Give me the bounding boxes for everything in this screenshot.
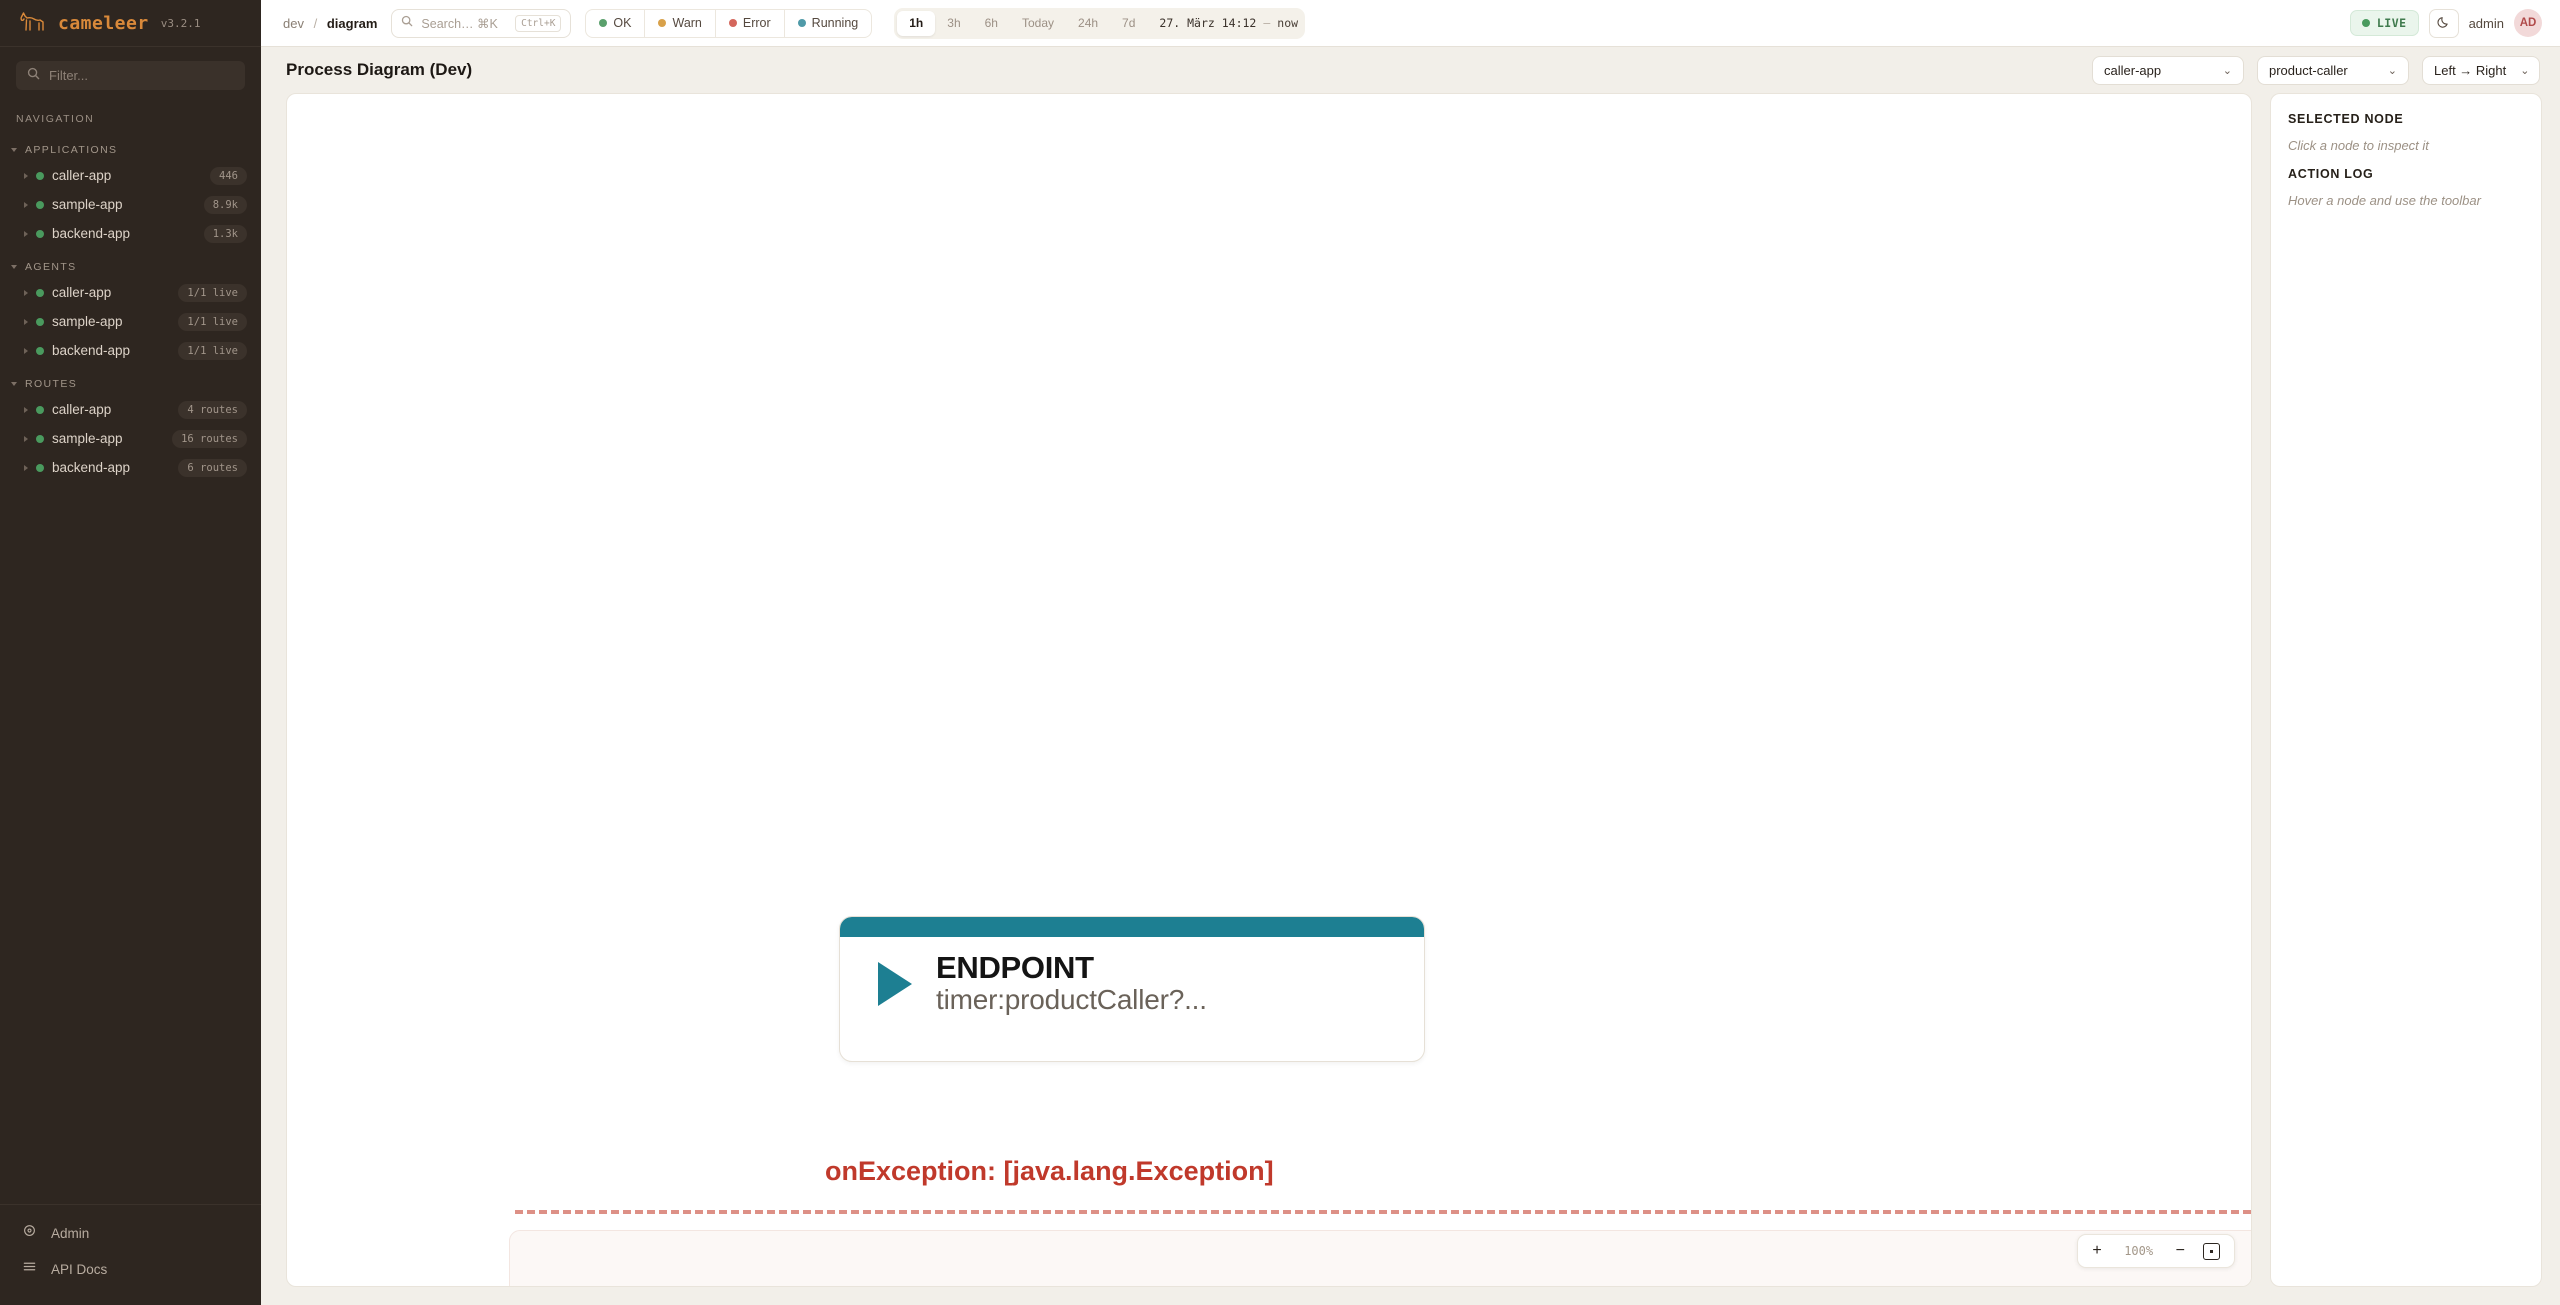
diagram-canvas[interactable]: ENDPOINT timer:productCaller?... onExcep…	[286, 93, 2252, 1287]
status-dot	[798, 19, 806, 27]
action-log-hint: Hover a node and use the toolbar	[2288, 193, 2524, 208]
status-filter-group: OK Warn Error Running	[585, 9, 872, 38]
status-chip-label: Running	[812, 16, 859, 30]
sidebar-item-label: backend-app	[52, 343, 170, 358]
live-badge[interactable]: LIVE	[2350, 10, 2419, 36]
chevron-down-icon	[11, 148, 17, 152]
group-label: APPLICATIONS	[25, 144, 117, 156]
sidebar-item-label: caller-app	[52, 168, 202, 183]
sidebar-item-applications-backend-app[interactable]: backend-app 1.3k	[0, 219, 261, 248]
status-dot	[36, 464, 44, 472]
node-text: ENDPOINT timer:productCaller?...	[936, 951, 1207, 1017]
brand-name: cameleer	[58, 13, 149, 34]
filter-box[interactable]	[16, 61, 245, 90]
page-header-controls: caller-app ⌄ product-caller ⌄ Left → Rig…	[2092, 56, 2540, 85]
sidebar-spacer	[0, 482, 261, 1204]
sidebar-item-badge: 6 routes	[178, 459, 247, 477]
app-select-value: caller-app	[2104, 63, 2161, 78]
search-placeholder: Search… ⌘K	[421, 16, 507, 31]
sidebar-item-routes-sample-app[interactable]: sample-app 16 routes	[0, 424, 261, 453]
sidebar-footer: Admin API Docs	[0, 1204, 261, 1305]
node-kind-label: ENDPOINT	[936, 951, 1207, 984]
sidebar-item-admin[interactable]: Admin	[0, 1215, 261, 1251]
sidebar-item-label: caller-app	[52, 285, 170, 300]
sidebar-item-applications-sample-app[interactable]: sample-app 8.9k	[0, 190, 261, 219]
group-agents: AGENTS caller-app 1/1 live sample-app 1/…	[0, 256, 261, 365]
time-range-from: 27. März 14:12	[1159, 16, 1256, 30]
brand-version: v3.2.1	[161, 17, 201, 30]
zoom-out-button[interactable]: −	[2176, 1243, 2185, 1259]
time-range-7d[interactable]: 7d	[1110, 11, 1147, 36]
sidebar-item-badge: 8.9k	[204, 196, 247, 214]
page-title: Process Diagram (Dev)	[286, 60, 472, 80]
main-area: dev / diagram Search… ⌘K Ctrl+K OK	[261, 0, 2560, 1305]
breadcrumb-separator: /	[314, 16, 318, 31]
status-dot	[36, 435, 44, 443]
time-range-group: 1h 3h 6h Today 24h 7d 27. März 14:12 – n…	[894, 8, 1305, 39]
status-dot	[36, 318, 44, 326]
inspector-panel: SELECTED NODE Click a node to inspect it…	[2270, 93, 2542, 1287]
group-applications: APPLICATIONS caller-app 446 sample-app 8…	[0, 139, 261, 248]
status-dot	[36, 406, 44, 414]
status-dot	[599, 19, 607, 27]
sidebar-item-badge: 4 routes	[178, 401, 247, 419]
moon-icon	[2437, 15, 2451, 32]
sidebar-item-applications-caller-app[interactable]: caller-app 446	[0, 161, 261, 190]
status-dot	[36, 172, 44, 180]
sidebar-footer-label: API Docs	[51, 1262, 107, 1277]
search-input[interactable]: Search… ⌘K Ctrl+K	[391, 9, 571, 38]
content-area: ENDPOINT timer:productCaller?... onExcep…	[261, 93, 2560, 1305]
sidebar-item-label: sample-app	[52, 431, 164, 446]
avatar[interactable]: AD	[2514, 9, 2542, 37]
sidebar-item-routes-caller-app[interactable]: caller-app 4 routes	[0, 395, 261, 424]
zoom-level: 100%	[2120, 1244, 2158, 1258]
page-header: Process Diagram (Dev) caller-app ⌄ produ…	[261, 47, 2560, 93]
time-range-6h[interactable]: 6h	[973, 11, 1010, 36]
time-range-to: now	[1277, 16, 1298, 30]
status-chip-label: Warn	[672, 16, 701, 30]
status-chip-running[interactable]: Running	[785, 10, 872, 37]
status-dot	[658, 19, 666, 27]
sidebar-item-agents-sample-app[interactable]: sample-app 1/1 live	[0, 307, 261, 336]
chevron-right-icon	[24, 231, 28, 237]
zoom-controls: + 100% −	[2077, 1234, 2235, 1268]
sidebar-item-agents-backend-app[interactable]: backend-app 1/1 live	[0, 336, 261, 365]
time-range-stamp[interactable]: 27. März 14:12 – now	[1147, 16, 1302, 30]
action-log-title: ACTION LOG	[2288, 167, 2524, 181]
sidebar-item-badge: 446	[210, 167, 247, 185]
filter-wrap	[0, 47, 261, 100]
sidebar-item-label: backend-app	[52, 226, 196, 241]
exception-region	[509, 1230, 2252, 1287]
status-dot	[36, 347, 44, 355]
chevron-right-icon	[24, 173, 28, 179]
brand[interactable]: cameleer v3.2.1	[0, 0, 261, 47]
time-range-dash: –	[1263, 16, 1270, 30]
live-label: LIVE	[2377, 16, 2407, 30]
status-chip-label: Error	[743, 16, 771, 30]
sidebar-item-badge: 1/1 live	[178, 342, 247, 360]
route-select-value: product-caller	[2269, 63, 2348, 78]
selected-node-title: SELECTED NODE	[2288, 112, 2524, 126]
group-label: ROUTES	[25, 378, 77, 390]
status-chip-warn[interactable]: Warn	[645, 10, 715, 37]
navigation-title: NAVIGATION	[0, 100, 261, 131]
app-select[interactable]: caller-app ⌄	[2092, 56, 2244, 85]
exception-handler-label: onException: [java.lang.Exception]	[825, 1156, 1274, 1187]
chevron-down-icon: ⌄	[2388, 64, 2397, 77]
status-dot	[36, 230, 44, 238]
direction-select-value: Left → Right	[2434, 63, 2506, 78]
search-icon	[27, 67, 40, 85]
sidebar-item-label: sample-app	[52, 197, 196, 212]
time-range-3h[interactable]: 3h	[935, 11, 972, 36]
sidebar-item-label: backend-app	[52, 460, 170, 475]
direction-select[interactable]: Left → Right ⌄	[2422, 56, 2540, 85]
play-icon	[878, 962, 912, 1006]
status-chip-error[interactable]: Error	[716, 10, 785, 37]
node-accent-bar	[840, 917, 1424, 937]
sidebar: cameleer v3.2.1 NAVIGATION APPLICATIONS	[0, 0, 261, 1305]
chevron-right-icon	[24, 407, 28, 413]
chevron-right-icon	[24, 436, 28, 442]
breadcrumb-root[interactable]: dev	[283, 16, 304, 31]
chevron-right-icon	[24, 290, 28, 296]
status-chip-label: OK	[613, 16, 631, 30]
group-header-applications[interactable]: APPLICATIONS	[0, 139, 261, 161]
sidebar-item-agents-caller-app[interactable]: caller-app 1/1 live	[0, 278, 261, 307]
sidebar-item-routes-backend-app[interactable]: backend-app 6 routes	[0, 453, 261, 482]
menu-icon	[22, 1259, 37, 1279]
camel-icon	[18, 10, 48, 36]
sidebar-item-badge: 1/1 live	[178, 284, 247, 302]
group-label: AGENTS	[25, 261, 77, 273]
chevron-right-icon	[24, 348, 28, 354]
breadcrumb: dev / diagram	[283, 16, 377, 31]
diagram-node-endpoint[interactable]: ENDPOINT timer:productCaller?...	[839, 916, 1425, 1062]
theme-toggle-button[interactable]	[2429, 9, 2459, 38]
chevron-down-icon: ⌄	[2520, 64, 2529, 77]
chevron-down-icon	[11, 265, 17, 269]
user-name: admin	[2469, 16, 2504, 31]
zoom-in-button[interactable]: +	[2092, 1243, 2101, 1259]
chevron-right-icon	[24, 202, 28, 208]
sidebar-item-label: caller-app	[52, 402, 170, 417]
breadcrumb-current: diagram	[327, 16, 378, 31]
app-root: cameleer v3.2.1 NAVIGATION APPLICATIONS	[0, 0, 2560, 1305]
group-header-routes[interactable]: ROUTES	[0, 373, 261, 395]
time-range-24h[interactable]: 24h	[1066, 11, 1110, 36]
status-dot	[36, 289, 44, 297]
route-select[interactable]: product-caller ⌄	[2257, 56, 2409, 85]
time-range-today[interactable]: Today	[1010, 11, 1066, 36]
gear-icon	[22, 1223, 37, 1243]
sidebar-item-label: sample-app	[52, 314, 170, 329]
search-icon	[401, 14, 413, 32]
topbar: dev / diagram Search… ⌘K Ctrl+K OK	[261, 0, 2560, 47]
selected-node-hint: Click a node to inspect it	[2288, 138, 2524, 153]
sidebar-item-badge: 1.3k	[204, 225, 247, 243]
status-dot	[36, 201, 44, 209]
status-chip-ok[interactable]: OK	[586, 10, 645, 37]
filter-input[interactable]	[49, 68, 234, 83]
sidebar-item-badge: 1/1 live	[178, 313, 247, 331]
chevron-right-icon	[24, 465, 28, 471]
status-dot	[729, 19, 737, 27]
exception-divider	[515, 1210, 2251, 1214]
chevron-down-icon	[11, 382, 17, 386]
time-range-1h[interactable]: 1h	[897, 11, 935, 36]
search-shortcut-badge: Ctrl+K	[515, 15, 561, 32]
chevron-down-icon: ⌄	[2223, 64, 2232, 77]
sidebar-item-badge: 16 routes	[172, 430, 247, 448]
sidebar-item-api-docs[interactable]: API Docs	[0, 1251, 261, 1287]
node-body: ENDPOINT timer:productCaller?...	[840, 937, 1424, 1017]
topbar-right: LIVE admin AD	[2350, 9, 2542, 38]
status-dot	[2362, 19, 2370, 27]
group-routes: ROUTES caller-app 4 routes sample-app 16…	[0, 373, 261, 482]
sidebar-footer-label: Admin	[51, 1226, 89, 1241]
chevron-right-icon	[24, 319, 28, 325]
group-header-agents[interactable]: AGENTS	[0, 256, 261, 278]
node-uri-label: timer:productCaller?...	[936, 984, 1207, 1016]
fit-to-screen-icon[interactable]	[2203, 1243, 2220, 1260]
